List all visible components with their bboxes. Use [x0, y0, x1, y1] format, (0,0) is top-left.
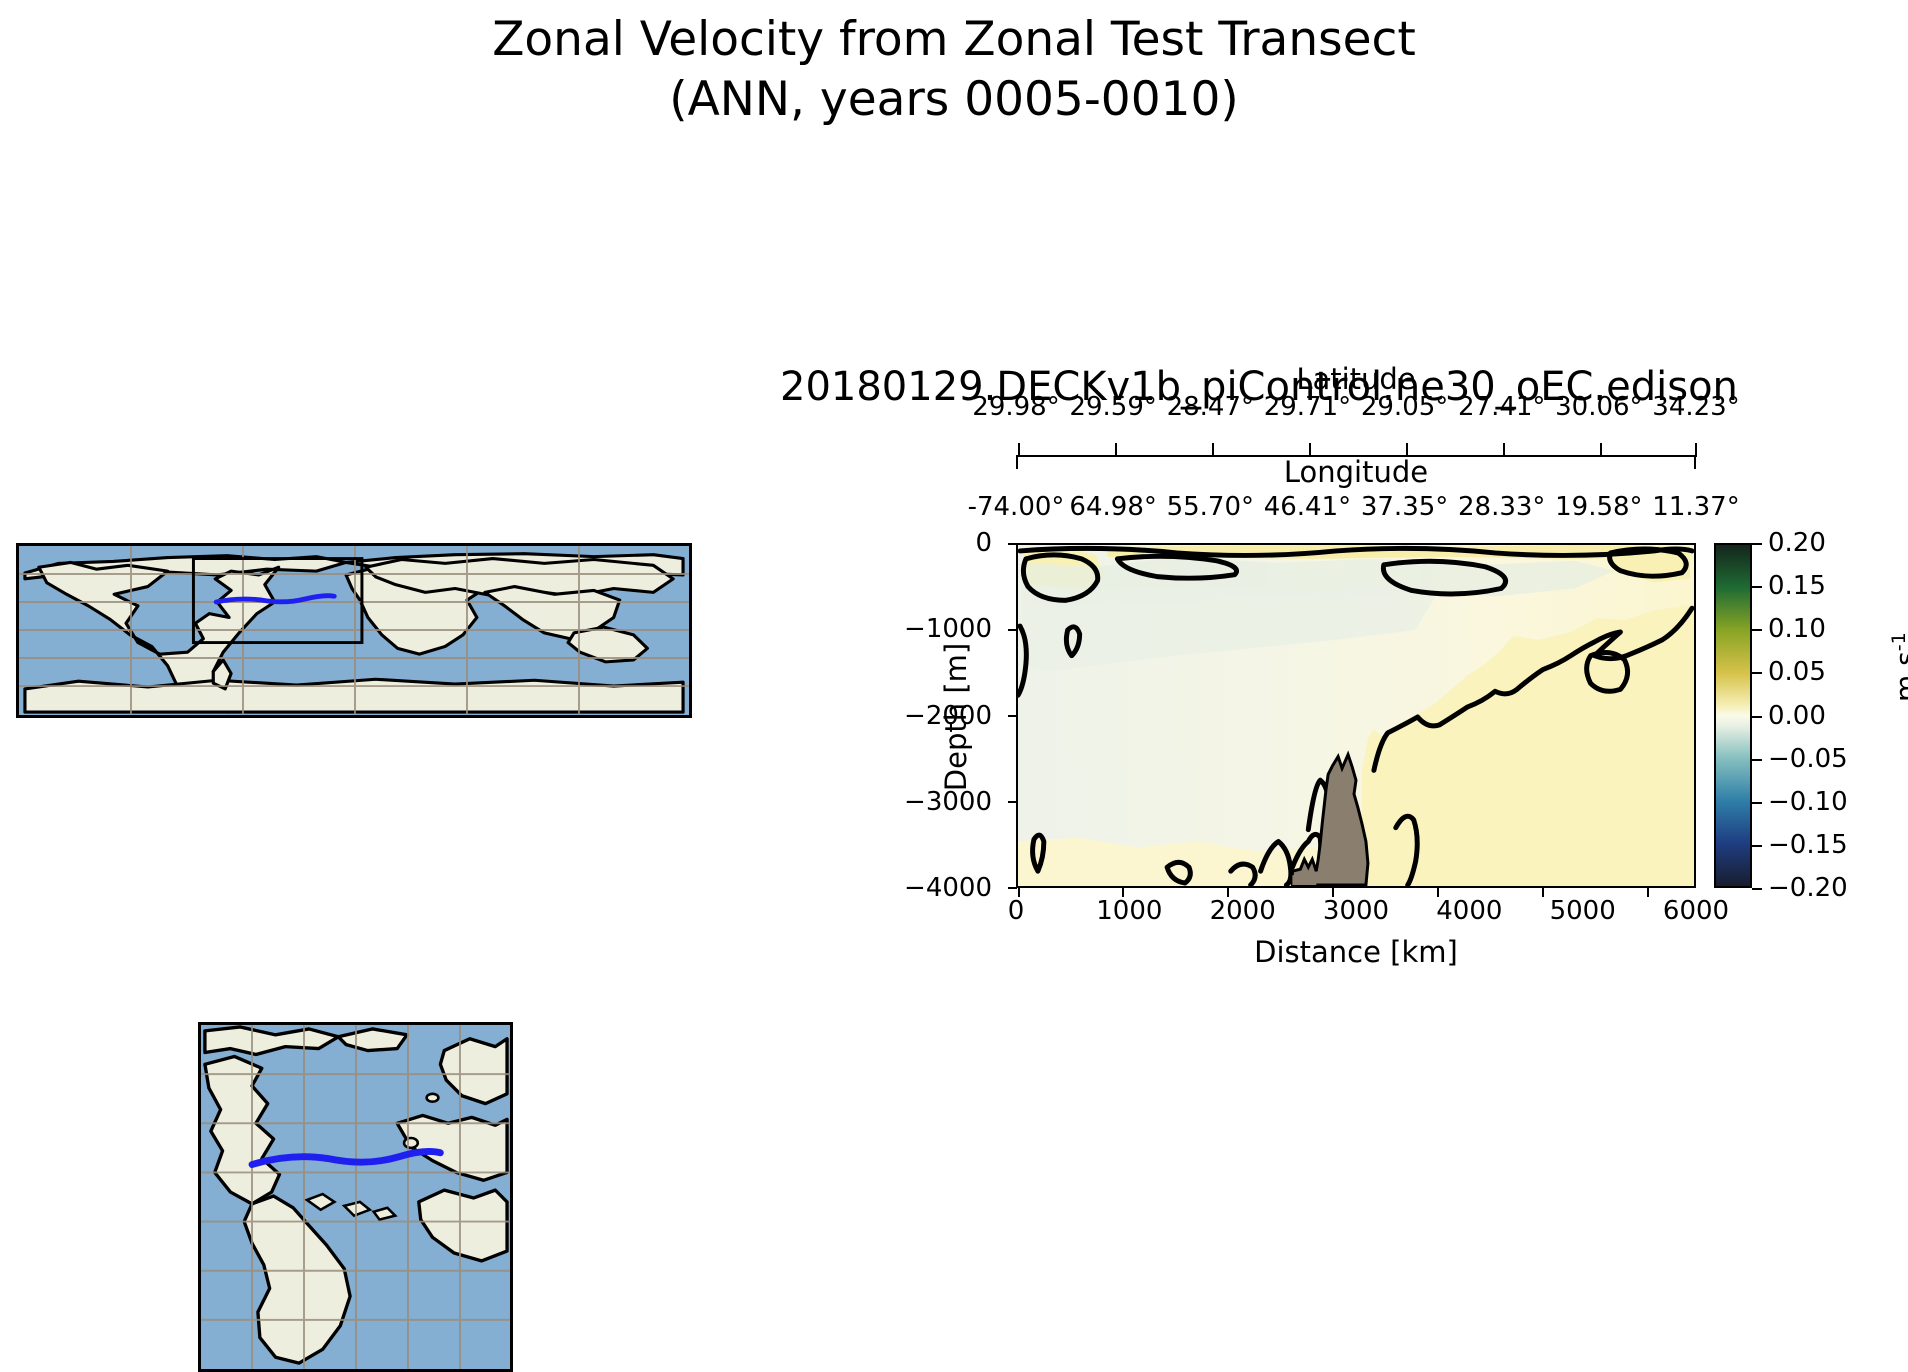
- longitude-tick-label: 11.37°: [1652, 492, 1739, 522]
- longitude-tick-label: 46.41°: [1264, 492, 1351, 522]
- colorbar-tick-label: 0.20: [1768, 528, 1826, 558]
- colorbar-tick-labels: 0.200.150.100.050.00−0.05−0.10−0.15−0.20: [1752, 543, 1908, 888]
- longitude-tick-label: 28.33°: [1458, 492, 1545, 522]
- colorbar-tick: [1752, 845, 1762, 847]
- distance-tick-label: 1000: [1096, 896, 1162, 926]
- depth-tick-label: 0: [975, 528, 992, 558]
- colorbar-tick: [1752, 586, 1762, 588]
- longitude-tick-label: 55.70°: [1167, 492, 1254, 522]
- distance-tick-labels: 0100020003000400050006000: [1016, 896, 1696, 930]
- distance-tick-label: 2000: [1210, 896, 1276, 926]
- global-map-svg: [19, 546, 689, 715]
- colorbar-tick-label: 0.00: [1768, 701, 1826, 731]
- longitude-tick-label: -74.00°: [968, 492, 1065, 522]
- distance-tick-label: 5000: [1550, 896, 1616, 926]
- colorbar-tick: [1752, 629, 1762, 631]
- colorbar-tick: [1752, 672, 1762, 674]
- colorbar-tick: [1752, 716, 1762, 718]
- colorbar-tick: [1752, 888, 1762, 890]
- colorbar-unit-text: m s: [1889, 651, 1908, 702]
- distance-axis-title: Distance [km]: [1016, 935, 1696, 969]
- colorbar-tick: [1752, 543, 1762, 545]
- run-name-subtitle: 20180129.DECKv1b_piControl.ne30_oEC.edis…: [780, 365, 1900, 409]
- transect-field-svg: [1018, 545, 1694, 886]
- depth-tick-label: −4000: [904, 873, 992, 903]
- distance-tick-label: 6000: [1663, 896, 1729, 926]
- longitude-tick-label: 37.35°: [1361, 492, 1448, 522]
- colorbar-tick-label: −0.05: [1768, 744, 1848, 774]
- colorbar-tick-label: 0.10: [1768, 614, 1826, 644]
- colorbar-tick-label: −0.20: [1768, 873, 1848, 903]
- distance-tick-label: 4000: [1436, 896, 1502, 926]
- colorbar-gradient[interactable]: [1714, 543, 1752, 888]
- longitude-axis-title: Longitude: [1016, 455, 1696, 489]
- bathymetry-mask-secondary: [1292, 875, 1316, 885]
- distance-tick-label: 0: [1008, 896, 1025, 926]
- transect-contour-plot[interactable]: [1016, 543, 1696, 888]
- depth-tick-labels: 0−1000−2000−3000−4000: [856, 530, 1006, 900]
- colorbar-unit-exponent: -1: [1888, 632, 1908, 651]
- colorbar-tick: [1752, 759, 1762, 761]
- page-title: Zonal Velocity from Zonal Test Transect …: [0, 10, 1908, 130]
- regional-map-svg: [201, 1025, 510, 1369]
- colorbar-unit-label: m s-1: [1888, 597, 1908, 737]
- longitude-tick-label: 64.98°: [1069, 492, 1156, 522]
- regional-zoom-map[interactable]: [198, 1022, 513, 1372]
- colorbar-tick-label: 0.15: [1768, 571, 1826, 601]
- colorbar-tick: [1752, 802, 1762, 804]
- colorbar-tick-label: −0.15: [1768, 830, 1848, 860]
- longitude-tick-label: 19.58°: [1555, 492, 1642, 522]
- depth-axis-title: Depth [m]: [939, 557, 973, 877]
- longitude-tick-labels: -74.00°64.98°55.70°46.41°37.35°28.33°19.…: [1016, 492, 1696, 526]
- distance-tick-label: 3000: [1323, 896, 1389, 926]
- colorbar-tick-label: 0.05: [1768, 657, 1826, 687]
- colorbar-tick-label: −0.10: [1768, 787, 1848, 817]
- global-overview-map[interactable]: [16, 543, 692, 718]
